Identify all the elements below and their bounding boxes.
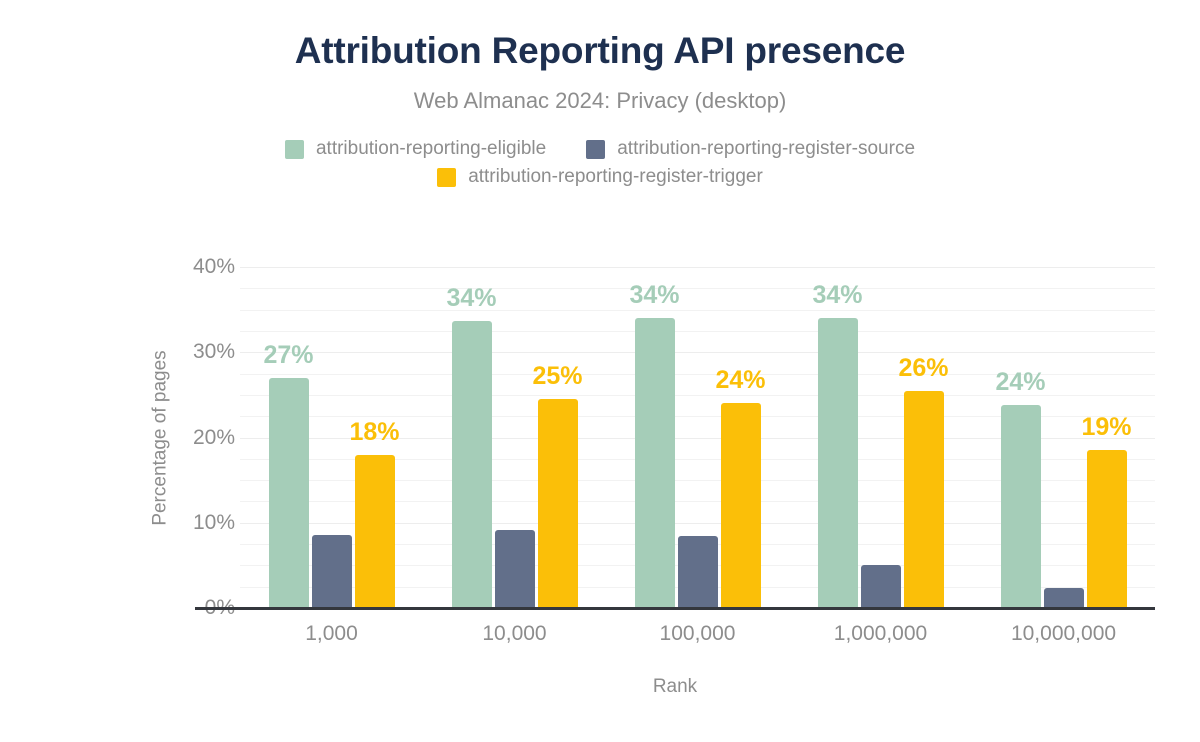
bar-slot: 25%: [538, 267, 578, 608]
bar[interactable]: 19%: [1087, 450, 1127, 608]
bar-group: 27%18%: [240, 267, 423, 608]
x-axis-tick-label: 10,000: [482, 622, 546, 646]
bar-slot: 34%: [452, 267, 492, 608]
bar-slot: [495, 267, 535, 608]
bar-slot: [678, 267, 718, 608]
bar-value-label: 26%: [898, 354, 948, 383]
bar-value-label: 24%: [995, 368, 1045, 397]
legend-row-secondary: attribution-reporting-register-trigger: [437, 166, 763, 188]
bar-slot: 34%: [635, 267, 675, 608]
bar[interactable]: 25%: [538, 399, 578, 608]
x-axis-tick-label: 1,000: [305, 622, 358, 646]
bar-slot: [312, 267, 352, 608]
legend-item-register-source[interactable]: attribution-reporting-register-source: [586, 138, 915, 160]
legend-swatch-icon-register-trigger: [437, 168, 456, 187]
y-axis-tick-label: 10%: [155, 511, 235, 535]
plot-area: Percentage of pages 0%10%20%30%40% 27%18…: [195, 267, 1155, 608]
bar[interactable]: 24%: [721, 403, 761, 608]
legend-swatch-icon-eligible: [285, 140, 304, 159]
legend-label-register-source: attribution-reporting-register-source: [617, 138, 915, 160]
bar[interactable]: 24%: [1001, 405, 1041, 608]
y-axis-tick-label: 40%: [155, 255, 235, 279]
chart-subtitle: Web Almanac 2024: Privacy (desktop): [0, 88, 1200, 114]
chart-legend: attribution-reporting-eligible attributi…: [0, 138, 1200, 188]
legend-swatch-icon-register-source: [586, 140, 605, 159]
bar[interactable]: 34%: [452, 321, 492, 608]
bar[interactable]: [861, 565, 901, 608]
y-axis-tick-label: 20%: [155, 426, 235, 450]
x-axis-tick-label: 1,000,000: [834, 622, 927, 646]
bar[interactable]: 27%: [269, 378, 309, 608]
bar-slot: [861, 267, 901, 608]
bar[interactable]: 34%: [818, 318, 858, 608]
bar[interactable]: 26%: [904, 391, 944, 608]
y-axis-tick-label: 30%: [155, 340, 235, 364]
chart-container: Attribution Reporting API presence Web A…: [0, 0, 1200, 742]
bar-slot: 18%: [355, 267, 395, 608]
bar-group: 34%25%: [423, 267, 606, 608]
bar[interactable]: [312, 535, 352, 608]
x-axis-tick-label: 10,000,000: [1011, 622, 1116, 646]
bar-slot: 26%: [904, 267, 944, 608]
bar-slot: [1044, 267, 1084, 608]
legend-item-eligible[interactable]: attribution-reporting-eligible: [285, 138, 546, 160]
bar-value-label: 34%: [446, 284, 496, 313]
bar[interactable]: 34%: [635, 318, 675, 608]
legend-item-register-trigger[interactable]: attribution-reporting-register-trigger: [437, 166, 763, 188]
bar-slot: 24%: [721, 267, 761, 608]
bar-value-label: 25%: [532, 362, 582, 391]
bar-groups: 27%18%34%25%34%24%34%26%24%19%: [240, 267, 1155, 608]
x-axis-tick-label: 100,000: [660, 622, 736, 646]
x-axis-label: Rank: [195, 676, 1155, 698]
bar-value-label: 27%: [263, 341, 313, 370]
x-axis-line: [195, 607, 1155, 610]
bar-group: 34%24%: [606, 267, 789, 608]
bar-value-label: 19%: [1081, 413, 1131, 442]
bar[interactable]: [495, 530, 535, 608]
bar-slot: 34%: [818, 267, 858, 608]
legend-row-primary: attribution-reporting-eligible attributi…: [285, 138, 915, 160]
bar-slot: 27%: [269, 267, 309, 608]
bar[interactable]: [1044, 588, 1084, 608]
bar-group: 34%26%: [789, 267, 972, 608]
bar-slot: 24%: [1001, 267, 1041, 608]
bar-value-label: 18%: [349, 418, 399, 447]
bar[interactable]: 18%: [355, 455, 395, 608]
bar-value-label: 34%: [812, 281, 862, 310]
legend-label-eligible: attribution-reporting-eligible: [316, 138, 546, 160]
bar-slot: 19%: [1087, 267, 1127, 608]
bar-group: 24%19%: [972, 267, 1155, 608]
bar[interactable]: [678, 536, 718, 608]
legend-label-register-trigger: attribution-reporting-register-trigger: [468, 166, 763, 188]
bar-value-label: 24%: [715, 366, 765, 395]
bar-value-label: 34%: [629, 281, 679, 310]
chart-title: Attribution Reporting API presence: [0, 30, 1200, 72]
